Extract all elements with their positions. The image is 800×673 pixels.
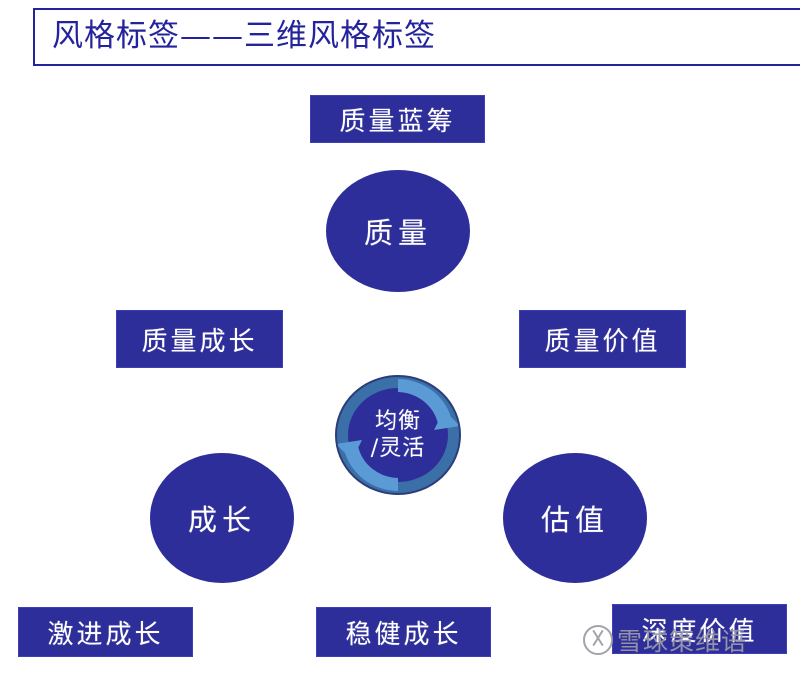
label-box-quality-growth: 质量成长 [116,310,283,368]
node-circle-quality: 质量 [326,170,470,292]
center-node-label-line2: /灵活 [371,435,425,462]
node-circle-growth: 成长 [150,453,294,583]
node-circle-value: 估值 [503,453,647,583]
slide-canvas: 风格标签——三维风格标签 质量蓝筹 质量 质量成长 质量价值 均衡 /灵活 成长… [0,0,800,673]
label-box-steady-growth: 稳健成长 [316,607,491,657]
center-node-label-line1: 均衡 [375,408,421,435]
center-node-label: 均衡 /灵活 [334,374,462,496]
xueqiu-logo-icon [583,625,613,655]
center-node-balanced-flexible: 均衡 /灵活 [334,374,462,496]
label-box-deep-value: 深度价值 [612,604,787,654]
label-box-quality-value: 质量价值 [519,310,686,368]
page-title: 风格标签——三维风格标签 [52,12,772,62]
label-box-quality-bluechip: 质量蓝筹 [310,95,485,143]
label-box-aggressive-growth: 激进成长 [18,607,193,657]
